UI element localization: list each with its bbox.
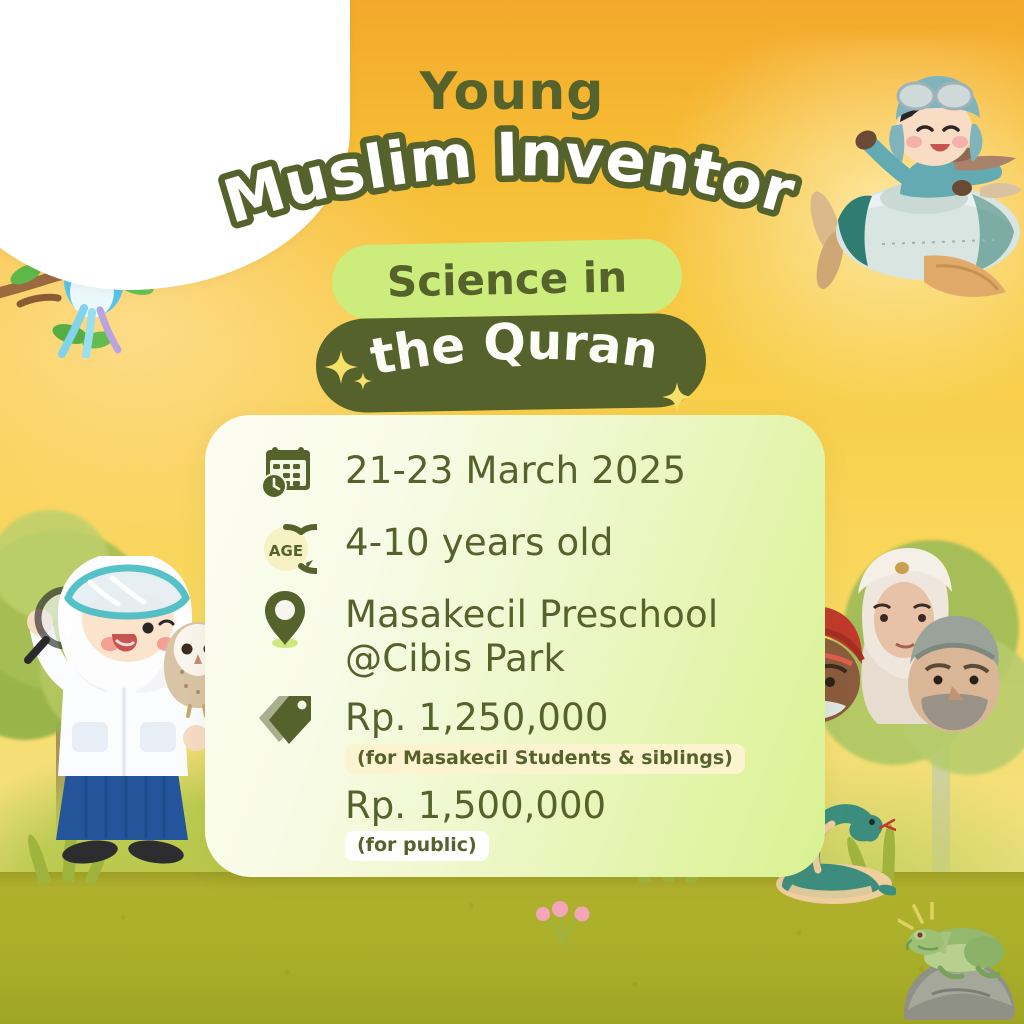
- calendar-clock-icon: [257, 443, 317, 505]
- info-location-line2: @Cibis Park: [345, 637, 718, 681]
- age-circle-icon: AGE: [257, 515, 317, 577]
- pink-flowers-icon: [528, 890, 598, 946]
- info-price-secondary-note: (for public): [345, 831, 489, 861]
- svg-text:AGE: AGE: [269, 542, 303, 560]
- info-price-primary-note: (for Masakecil Students & siblings): [345, 744, 745, 774]
- svg-text:Muslim Inventor: Muslim Inventor: [216, 120, 802, 238]
- info-date-value: 21-23 March 2025: [345, 443, 686, 493]
- info-location-line1: Masakecil Preschool: [345, 593, 718, 636]
- frog-on-rock-illustration: [898, 902, 1020, 1020]
- event-info-card: 21-23 March 2025 AGE 4-10 years old: [205, 415, 825, 877]
- info-age-value: 4-10 years old: [345, 515, 614, 565]
- price-tag-icon: [257, 690, 317, 752]
- info-price-group: Rp. 1,250,000 (for Masakecil Students & …: [345, 690, 745, 861]
- info-row-age: AGE 4-10 years old: [257, 515, 799, 577]
- sparkle-icon: [324, 350, 358, 384]
- title-block: Young Muslim Inventor Science in the Qur…: [212, 52, 812, 382]
- info-row-location: Masakecil Preschool @Cibis Park: [257, 587, 799, 680]
- sparkle-icon: [354, 372, 372, 390]
- info-row-date: 21-23 March 2025: [257, 443, 799, 505]
- info-row-price: Rp. 1,250,000 (for Masakecil Students & …: [257, 690, 799, 861]
- poster-canvas: masakecil Young Muslim Inventor Science …: [0, 0, 1024, 1024]
- info-price-secondary: Rp. 1,500,000: [345, 784, 745, 827]
- boy-pilot-airplane-illustration: [804, 74, 1024, 304]
- title-line-the-quran: the Quran: [304, 308, 724, 418]
- info-price-primary: Rp. 1,250,000: [345, 690, 745, 740]
- title-line-muslim-inventor: Muslim Inventor: [200, 110, 820, 250]
- info-location-value: Masakecil Preschool @Cibis Park: [345, 587, 718, 680]
- sparkle-icon: [662, 382, 692, 412]
- svg-text:the Quran: the Quran: [366, 313, 662, 387]
- location-pin-icon: [257, 587, 317, 649]
